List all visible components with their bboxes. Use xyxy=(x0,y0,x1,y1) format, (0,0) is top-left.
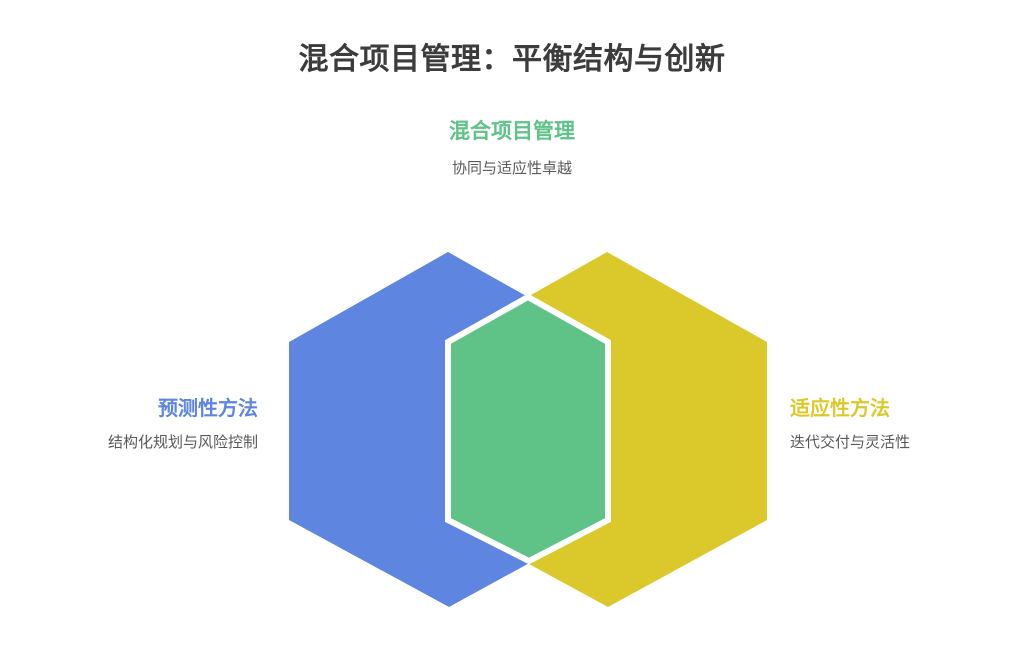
label-adaptive-title: 适应性方法 xyxy=(790,396,1024,423)
venn-diagram xyxy=(0,0,1024,672)
hexagon-hybrid-overlap[interactable] xyxy=(448,297,608,561)
label-adaptive-subtitle: 迭代交付与灵活性 xyxy=(790,432,1024,455)
label-hybrid-subtitle: 协同与适应性卓越 xyxy=(0,158,1024,181)
label-hybrid: 混合项目管理 协同与适应性卓越 xyxy=(0,118,1024,181)
diagram-canvas: 混合项目管理：平衡结构与创新 混合项目管理 协同与适应性卓越 预测性方法 结构化… xyxy=(0,0,1024,672)
label-adaptive: 适应性方法 迭代交付与灵活性 xyxy=(790,396,1024,455)
label-predictive-subtitle: 结构化规划与风险控制 xyxy=(0,432,258,455)
label-hybrid-title: 混合项目管理 xyxy=(0,118,1024,146)
label-predictive: 预测性方法 结构化规划与风险控制 xyxy=(0,396,268,455)
label-predictive-title: 预测性方法 xyxy=(0,396,258,423)
